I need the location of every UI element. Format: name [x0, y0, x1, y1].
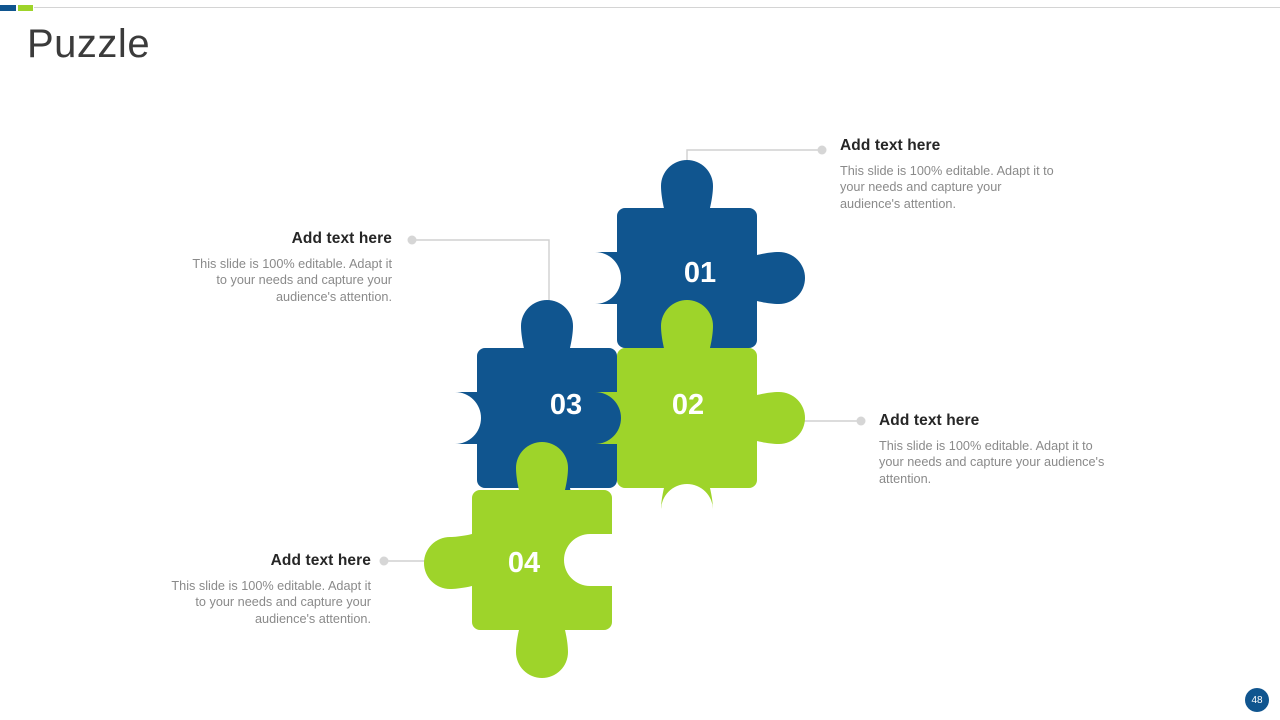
callout-02-body: This slide is 100% editable. Adapt it to…	[879, 438, 1107, 487]
callout-01-heading: Add text here	[840, 137, 1065, 155]
slide-canvas: Puzzle	[0, 0, 1280, 720]
connector-dot-04	[380, 557, 389, 566]
page-number-badge: 48	[1245, 688, 1269, 712]
callout-03-heading: Add text here	[180, 230, 392, 248]
callout-03-body: This slide is 100% editable. Adapt it to…	[180, 256, 392, 305]
callout-04-heading: Add text here	[160, 552, 371, 570]
callout-03: Add text here This slide is 100% editabl…	[180, 230, 392, 305]
puzzle-piece-02-label: 02	[672, 389, 704, 421]
puzzle-piece-01-label: 01	[684, 257, 716, 289]
puzzle-piece-03-label: 03	[550, 389, 582, 421]
callout-01: Add text here This slide is 100% editabl…	[840, 137, 1065, 212]
connector-dot-01	[818, 146, 827, 155]
callout-04: Add text here This slide is 100% editabl…	[160, 552, 371, 627]
callout-02-heading: Add text here	[879, 412, 1107, 430]
callout-02: Add text here This slide is 100% editabl…	[879, 412, 1107, 487]
connector-dot-02	[857, 417, 866, 426]
callout-04-body: This slide is 100% editable. Adapt it to…	[160, 578, 371, 627]
connector-dot-03	[408, 236, 417, 245]
puzzle-piece-04-label: 04	[508, 547, 540, 579]
callout-01-body: This slide is 100% editable. Adapt it to…	[840, 163, 1065, 212]
